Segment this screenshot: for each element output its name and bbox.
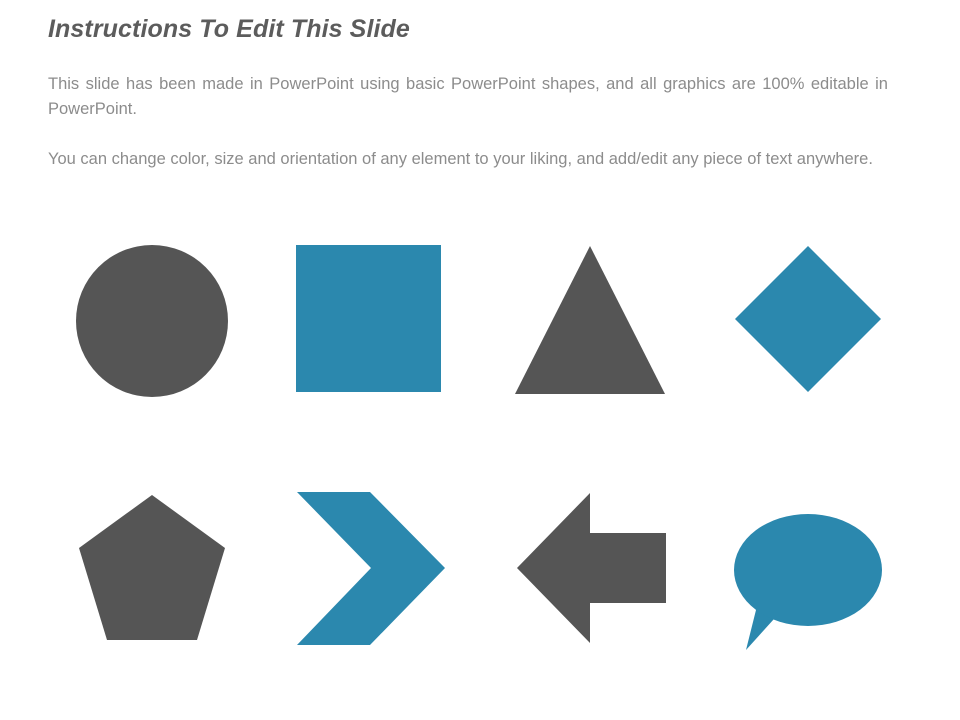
chevron-arrow-icon: [297, 492, 445, 645]
instructions-paragraph-1: This slide has been made in PowerPoint u…: [48, 72, 888, 147]
page-title: Instructions To Edit This Slide: [48, 12, 908, 46]
pentagon-icon: [79, 495, 225, 640]
shape-speech-bubble[interactable]: [718, 484, 894, 660]
slide-canvas: Instructions To Edit This Slide This sli…: [0, 0, 960, 720]
circle-icon: [76, 245, 228, 397]
shape-triangle[interactable]: [500, 236, 676, 412]
instructions-paragraph-2: You can change color, size and orientati…: [48, 147, 888, 172]
shape-diamond[interactable]: [718, 236, 894, 412]
square-icon: [296, 245, 441, 392]
shape-pentagon[interactable]: [64, 484, 240, 660]
left-arrow-icon: [517, 493, 666, 643]
triangle-icon: [515, 246, 665, 394]
shape-circle[interactable]: [64, 236, 240, 412]
shape-left-arrow[interactable]: [500, 484, 676, 660]
shape-chevron-arrow[interactable]: [282, 484, 458, 660]
shape-gallery: [0, 236, 960, 666]
instructions-text-block: This slide has been made in PowerPoint u…: [48, 72, 888, 172]
shape-square[interactable]: [282, 236, 458, 412]
speech-bubble-icon: [734, 514, 882, 650]
diamond-icon: [735, 246, 881, 392]
